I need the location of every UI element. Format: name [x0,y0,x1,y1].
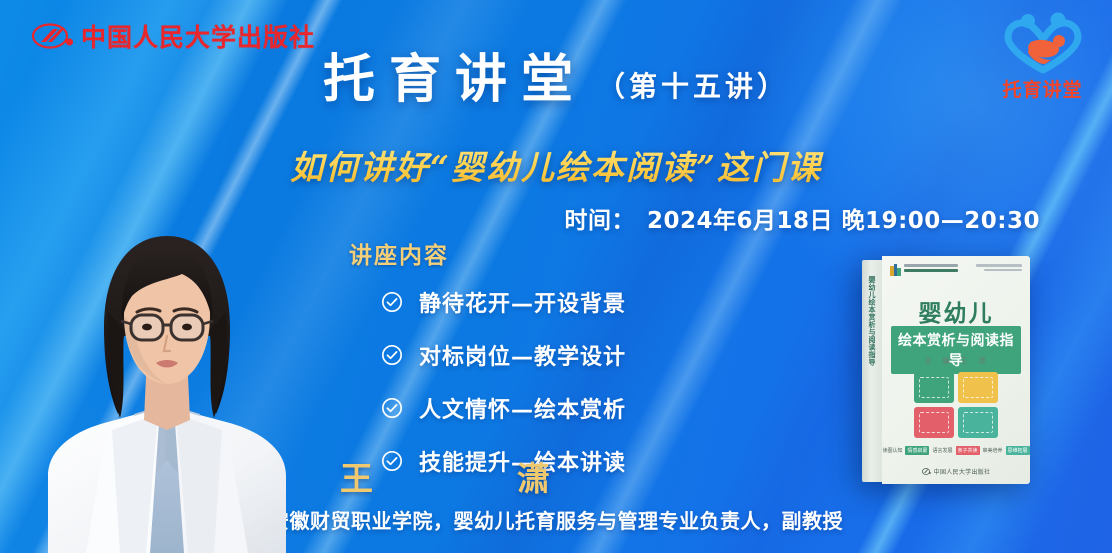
art-tile [914,372,954,403]
publisher-name: 中国人民大学出版社 [81,18,315,54]
book-tag: 亲子共读 [956,446,980,455]
list-item: 人文情怀—绘本赏析 [381,392,626,424]
book-front-face: 婴幼儿 绘本赏析与阅读指导 主 编 王 潇 读图认知 情感启蒙 语言发展 亲子共… [882,256,1030,484]
book-note-lines [976,264,1022,271]
page-title: 托育讲堂 [323,54,587,106]
content-item-label: 对标岗位—教学设计 [419,339,626,371]
speaker-name: 王 潇 [340,452,576,500]
badge-line [904,264,958,267]
series-badge-lines [904,264,958,272]
note-line [984,269,1022,272]
session-number: （第十五讲） [597,73,789,106]
book-tag-row: 读图认知 情感启蒙 语言发展 亲子共读 审美培养 思维拓展 [890,446,1022,455]
badge-line [904,269,958,273]
check-circle-icon [381,397,403,419]
book-tag: 审美培养 [983,447,1003,454]
content-item-label: 静待花开—开设背景 [419,286,626,318]
note-line [976,264,1022,267]
book-publisher: 中国人民大学出版社 [882,467,1030,476]
check-circle-icon [381,291,403,313]
book-series-badge [890,264,958,276]
book-tag: 读图认知 [882,447,902,454]
list-item: 静待花开—开设背景 [381,286,626,318]
content-heading: 讲座内容 [349,236,626,270]
promo-poster: 中国人民大学出版社 托育讲堂 托育讲堂 （第十五讲） 如何讲好“婴幼儿绘本阅读”… [0,0,1112,553]
renmin-press-logo-icon [32,23,74,49]
content-list: 静待花开—开设背景 对标岗位—教学设计 人文情怀—绘本赏析 [349,286,626,477]
book-title: 婴幼儿 [882,294,1030,328]
book-spine-text: 婴幼儿绘本赏析与阅读指导 [865,276,879,456]
book-tag: 思维拓展 [1006,446,1030,455]
book-tag: 情感启蒙 [905,446,929,455]
content-item-label: 人文情怀—绘本赏析 [419,392,626,424]
book-cover: 婴幼儿绘本赏析与阅读指导 [862,256,1030,484]
art-tile [958,372,998,403]
presenter-photo [42,208,292,553]
schedule-text: 时间： 2024年6月18日 晚19:00—20:30 [565,201,1040,235]
book-spine: 婴幼儿绘本赏析与阅读指导 [862,260,882,482]
book-author-line: 主 编 王 潇 [882,356,1030,366]
book-publisher-name: 中国人民大学出版社 [934,467,991,476]
check-circle-icon [381,344,403,366]
book-top-badges [890,264,1022,276]
renmin-press-small-logo-icon [922,468,931,475]
title-row: 托育讲堂 （第十五讲） [0,54,1112,106]
series-emblem-icon [890,264,901,276]
art-tile [958,407,998,438]
list-item: 对标岗位—教学设计 [381,339,626,371]
poster-subtitle: 如何讲好“婴幼儿绘本阅读”这门课 [0,141,1112,189]
book-cover-art [914,372,998,438]
publisher-logo: 中国人民大学出版社 [32,18,315,54]
art-tile [914,407,954,438]
book-tag: 语言发展 [932,447,952,454]
book-subtitle-band: 绘本赏析与阅读指导 [891,326,1021,374]
